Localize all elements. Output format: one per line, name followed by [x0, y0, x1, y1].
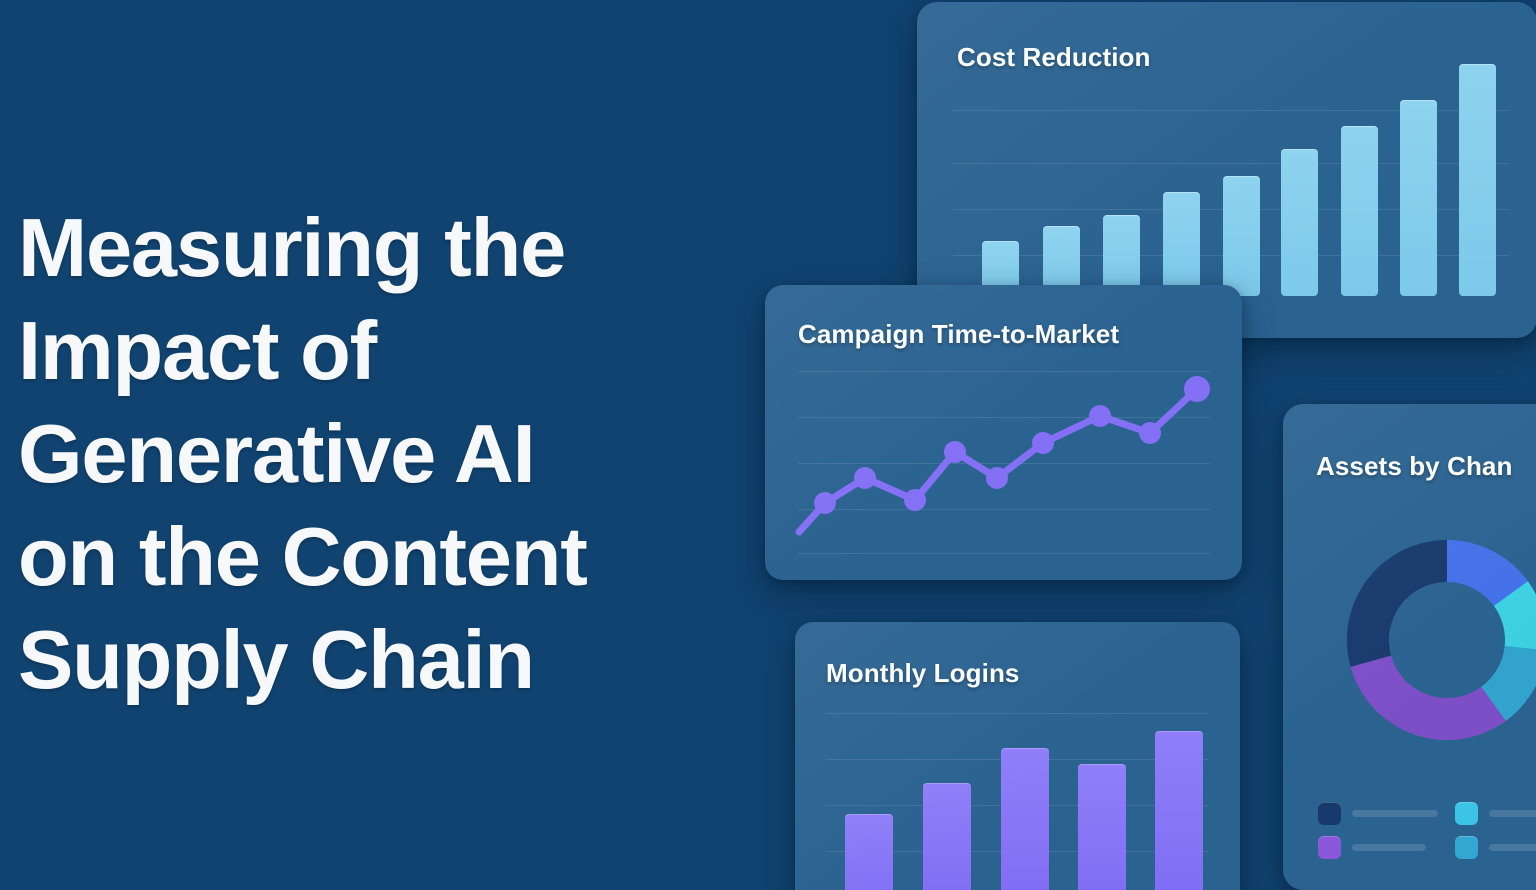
donut-segment-1 [1347, 540, 1447, 667]
bar [1223, 176, 1260, 296]
bar [845, 814, 893, 890]
bar [1281, 149, 1318, 296]
bar [1001, 748, 1049, 890]
legend-label-placeholder [1352, 810, 1438, 817]
bar [1155, 731, 1203, 890]
hero-banner: Measuring the Impact of Generative AI on… [0, 0, 1536, 890]
bar [1103, 215, 1140, 296]
legend-label-placeholder [1489, 810, 1536, 817]
legend-label-placeholder [1352, 844, 1426, 851]
line-chart-series [765, 285, 1242, 580]
legend-item[interactable] [1455, 802, 1536, 825]
bar [923, 783, 971, 890]
gridline [826, 713, 1209, 714]
card-monthly-logins[interactable]: Monthly Logins [795, 622, 1240, 890]
bar [1341, 126, 1378, 296]
bar [1078, 764, 1126, 890]
card-assets-by-channel[interactable]: Assets by Chan [1283, 404, 1536, 890]
legend-swatch-4 [1455, 836, 1478, 859]
legend-item[interactable] [1318, 836, 1426, 859]
legend-swatch-3 [1455, 802, 1478, 825]
card-campaign-time-to-market[interactable]: Campaign Time-to-Market [765, 285, 1242, 580]
page-title: Measuring the Impact of Generative AI on… [18, 196, 678, 711]
donut-chart [1319, 512, 1536, 768]
legend-swatch-2 [1318, 836, 1341, 859]
legend-item[interactable] [1455, 836, 1536, 859]
legend-item[interactable] [1318, 802, 1438, 825]
donut-segment-5 [1351, 656, 1506, 740]
card-title-cost-reduction: Cost Reduction [957, 42, 1151, 73]
card-title-assets-by-channel: Assets by Chan [1316, 451, 1512, 482]
bar [1459, 64, 1496, 296]
bar [1400, 100, 1437, 296]
card-title-monthly-logins: Monthly Logins [826, 658, 1019, 689]
bar [1163, 192, 1200, 296]
legend-swatch-1 [1318, 802, 1341, 825]
legend-label-placeholder [1489, 844, 1536, 851]
